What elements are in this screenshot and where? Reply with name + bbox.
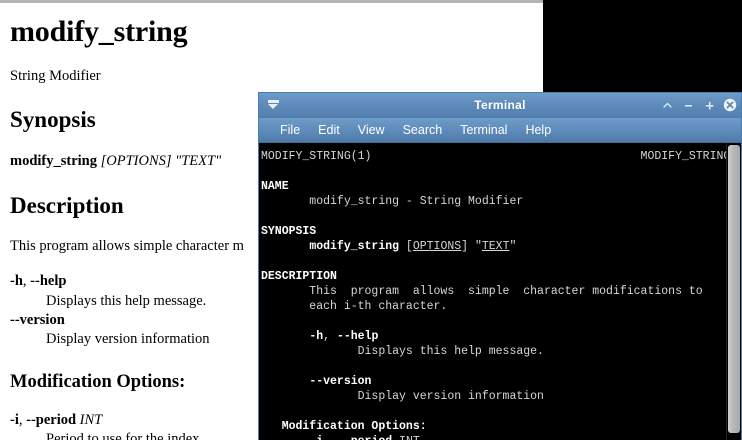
terminal-output[interactable]: MODIFY_STRING(1) MODIFY_STRING(1) NAME m… — [259, 143, 726, 440]
option-short-period: -i — [10, 412, 19, 428]
option-short-help: -h — [10, 273, 23, 289]
terminal-titlebar[interactable]: Terminal — [259, 93, 741, 118]
page-subtitle: String Modifier — [10, 67, 533, 85]
menu-item-edit[interactable]: Edit — [309, 121, 349, 139]
option-long-version: --version — [10, 312, 65, 328]
maximize-button[interactable] — [702, 98, 716, 112]
menu-item-help[interactable]: Help — [516, 121, 560, 139]
menu-item-terminal[interactable]: Terminal — [451, 121, 516, 139]
minimize-button[interactable] — [681, 98, 695, 112]
menu-item-file[interactable]: File — [271, 121, 309, 139]
close-button[interactable] — [723, 98, 737, 112]
menu-item-search[interactable]: Search — [394, 121, 452, 139]
synopsis-command: modify_string — [10, 153, 97, 169]
menu-item-view[interactable]: View — [349, 121, 394, 139]
page-title: modify_string — [10, 13, 533, 51]
terminal-scrollbar-thumb[interactable] — [728, 145, 740, 433]
terminal-window[interactable]: Terminal File Edit View Search — [258, 92, 742, 440]
desktop-background: modify_string String Modifier Synopsis m… — [0, 0, 742, 440]
terminal-scrollbar[interactable] — [726, 143, 741, 440]
window-buttons — [660, 93, 737, 117]
terminal-menubar[interactable]: File Edit View Search Terminal Help — [259, 118, 741, 143]
option-long-period: --period — [26, 412, 76, 428]
window-menu-icon-chevron — [268, 104, 278, 109]
synopsis-text: "TEXT" — [175, 153, 221, 169]
shade-button[interactable] — [660, 98, 674, 112]
option-arg-period: INT — [80, 412, 103, 428]
window-menu-icon-bar — [268, 100, 279, 103]
terminal-screen[interactable]: MODIFY_STRING(1) MODIFY_STRING(1) NAME m… — [259, 143, 741, 440]
option-long-help: --help — [30, 273, 66, 289]
synopsis-options: [OPTIONS] — [101, 153, 172, 169]
window-menu-icon[interactable] — [265, 96, 281, 113]
